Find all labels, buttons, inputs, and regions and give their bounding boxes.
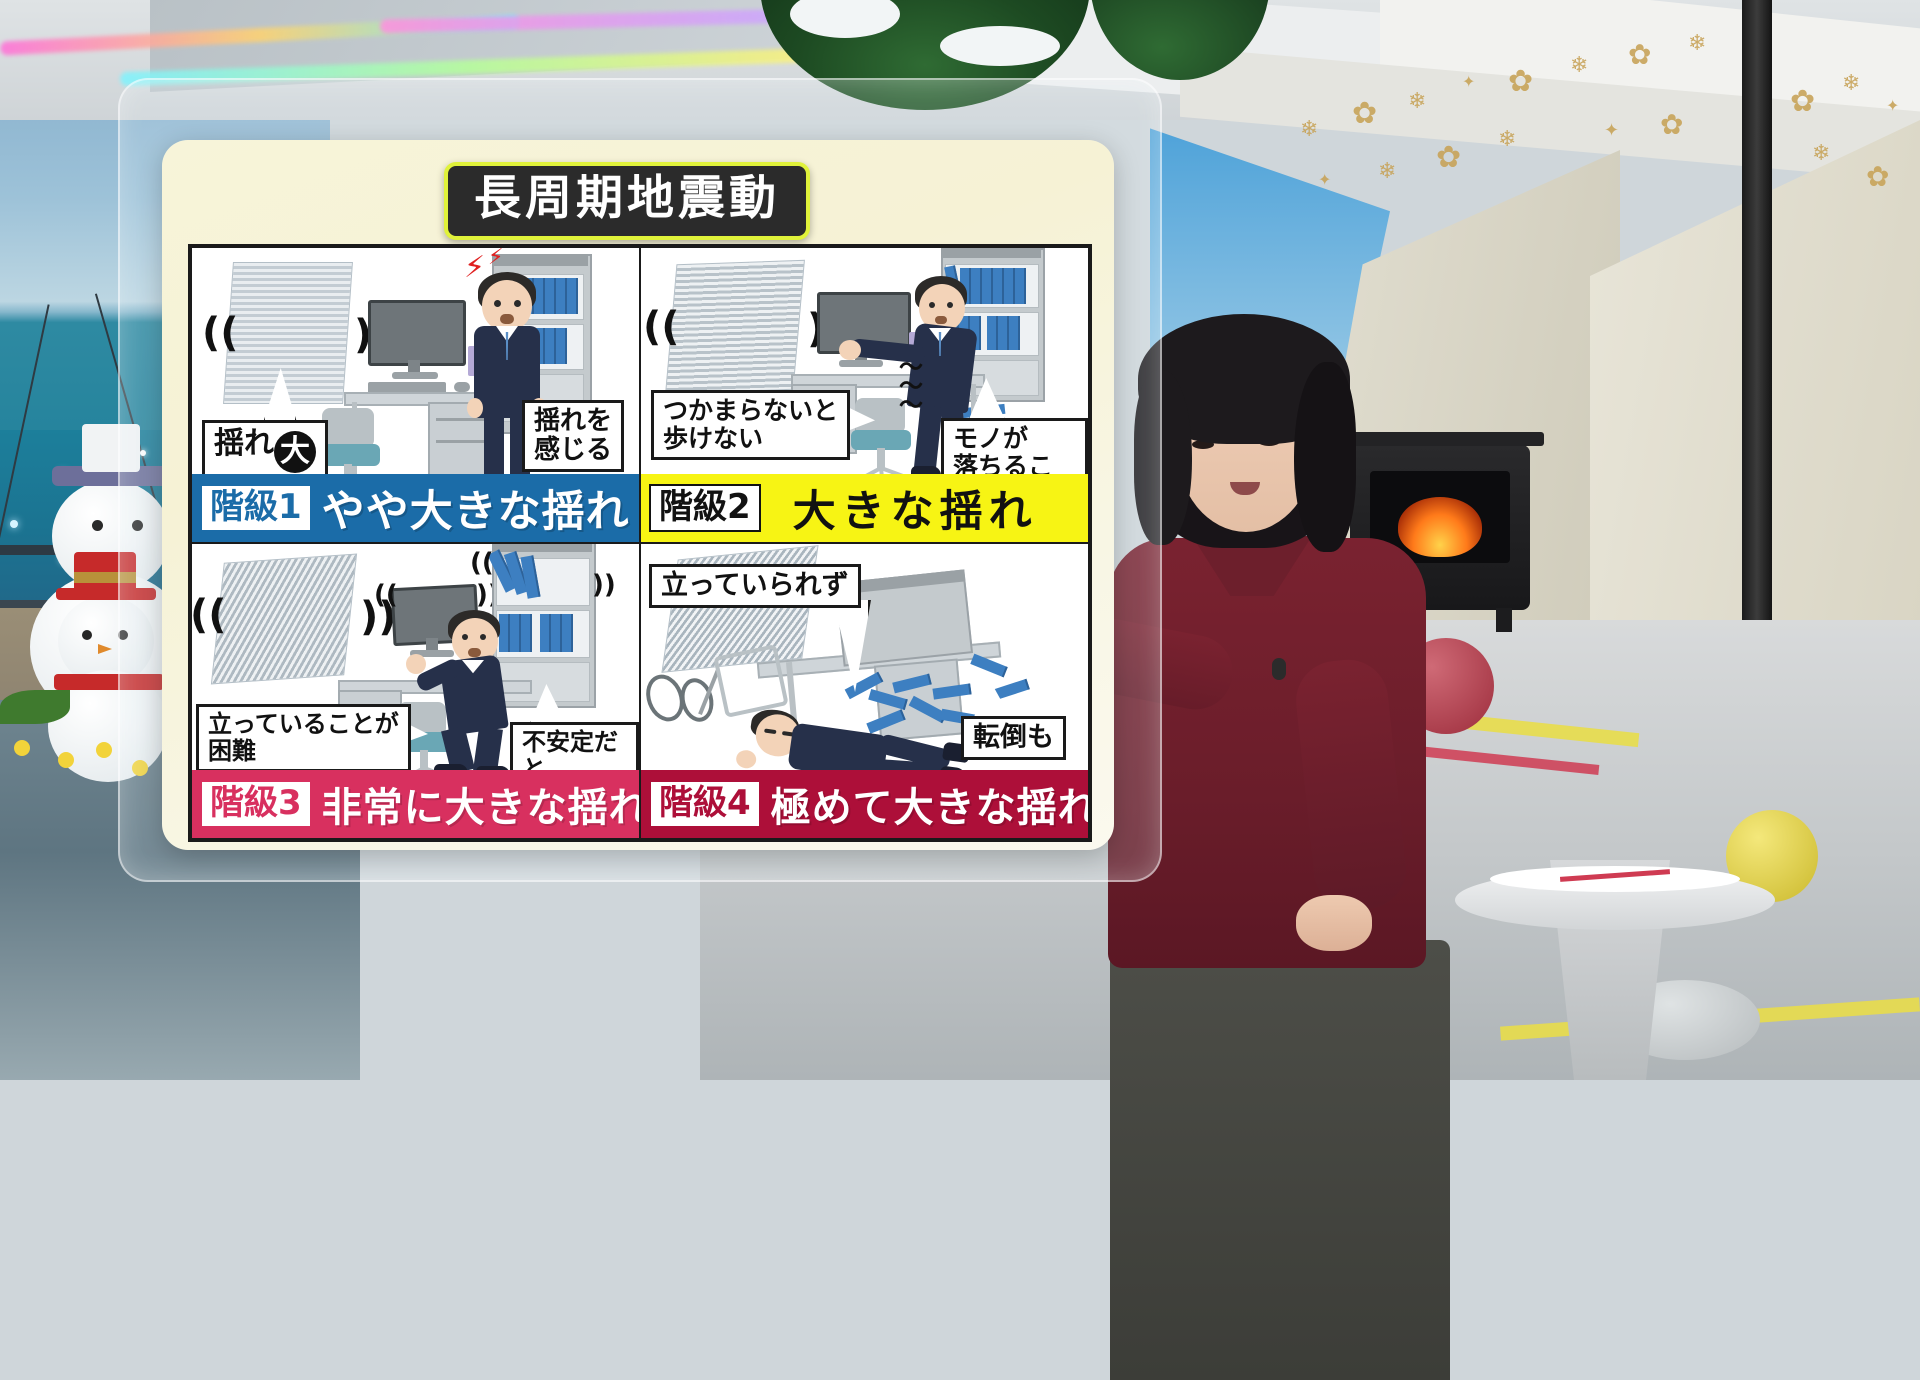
foliage (0, 690, 70, 724)
band-class-2[interactable]: 階級2 大きな揺れ (641, 474, 1088, 542)
flower (96, 742, 112, 758)
monitor (368, 300, 466, 366)
tree-snow (940, 26, 1060, 66)
callout-cannot-walk: つかまらないと 歩けない (651, 390, 850, 460)
desc-class-1: やや大きな揺れ (322, 477, 630, 539)
window-blind (223, 262, 353, 404)
large-mark-icon: 大 (274, 431, 316, 473)
presenter-hand-right (1296, 895, 1372, 951)
band-class-4[interactable]: 階級4 極めて大きな揺れ (641, 770, 1088, 838)
callout-topple: 転倒も (961, 716, 1066, 760)
mouse (454, 382, 470, 392)
badge-class-2: 階級2 (649, 484, 761, 531)
chair-back (322, 408, 374, 448)
level-cell-class-2[interactable]: (( )) (640, 247, 1089, 543)
illustration-class-4: 立っていられず 転倒も (641, 544, 1088, 770)
anger-mark-icon: ⚡ (488, 248, 503, 270)
illustration-class-1: (( )) (192, 248, 639, 474)
window-blind (211, 554, 357, 685)
table-papers (1490, 866, 1740, 892)
presenter-microphone (1272, 658, 1286, 680)
level-cell-class-1[interactable]: (( )) (191, 247, 640, 543)
shake-squiggle-icon: 〜〜〜 (899, 358, 923, 416)
callout-shake-large: 揺れ大 (202, 420, 328, 474)
badge-class-1: 階級1 (200, 484, 312, 531)
level-cell-class-4[interactable]: 立っていられず 転倒も 階級4 極めて大きな揺れ (640, 543, 1089, 839)
studio-pillar (1742, 0, 1772, 640)
presenter-hair-right (1294, 362, 1356, 552)
callout-cannot-stand: 立っていられず (649, 564, 861, 608)
board-title-chip: 長周期地震動 (444, 162, 810, 240)
chair-seat (851, 430, 911, 450)
band-class-3[interactable]: 階級3 非常に大きな揺れ (192, 770, 639, 838)
badge-class-3: 階級3 (200, 780, 312, 827)
desc-class-2: 大きな揺れ (793, 477, 1038, 539)
flower (58, 752, 74, 768)
badge-class-4: 階級4 (649, 780, 761, 827)
callout-unstable-topple: 不安定だと 転倒も (510, 722, 639, 770)
callout-hard-to-stand: 立っていることが 困難 (196, 704, 411, 770)
board-title: 長周期地震動 (474, 173, 780, 225)
desc-class-3: 非常に大きな揺れ (322, 775, 640, 833)
infographic-board: 長周期地震動 (( )) (162, 140, 1114, 850)
anger-mark-icon: ⚡ (464, 250, 485, 285)
illustration-class-3: (( )) (( )) ( (192, 544, 639, 770)
callout-things-fall: モノが 落ちることも (941, 418, 1088, 474)
presenter-skirt (1110, 940, 1450, 1380)
levels-grid: (( )) (188, 244, 1092, 842)
desc-class-4: 極めて大きな揺れ (771, 775, 1089, 833)
illustration-class-2: (( )) (641, 248, 1088, 474)
flower (14, 740, 30, 756)
toppled-chair (713, 644, 788, 718)
level-cell-class-3[interactable]: (( )) (( )) ( (191, 543, 640, 839)
callout-feel-shaking: 揺れを 感じる (522, 400, 624, 472)
band-class-1[interactable]: 階級1 やや大きな揺れ (192, 474, 639, 542)
window-blind (665, 260, 805, 394)
